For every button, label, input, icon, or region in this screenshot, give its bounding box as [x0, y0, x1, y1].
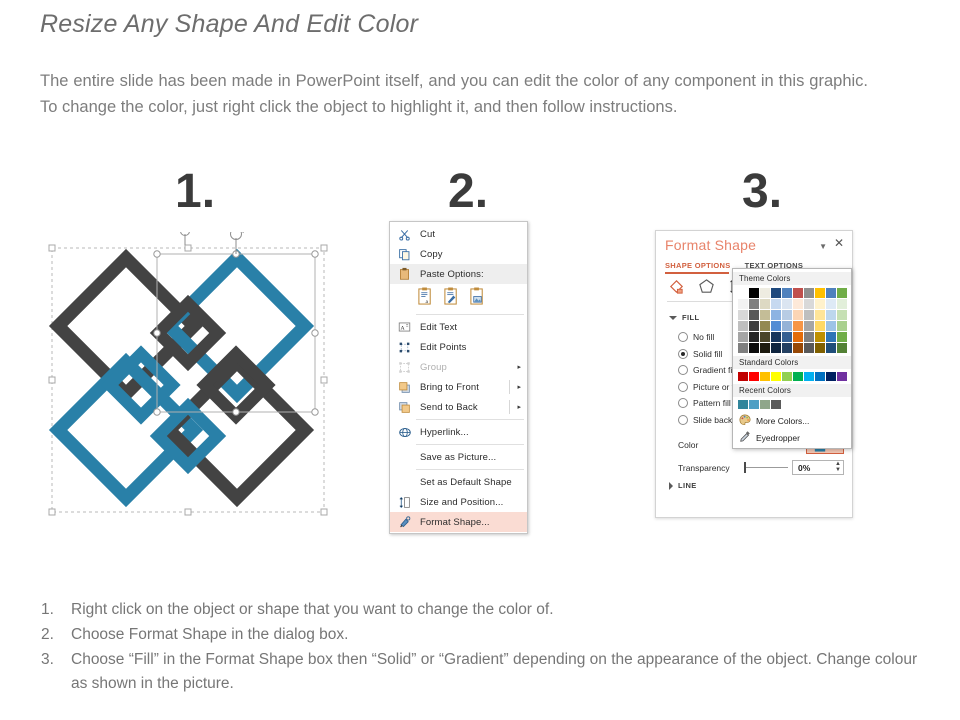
- theme-color-swatch[interactable]: [815, 343, 825, 353]
- paste-use-destination-theme-icon[interactable]: [443, 287, 460, 309]
- menu-item-label: Save as Picture...: [415, 452, 496, 463]
- theme-color-swatch[interactable]: [782, 288, 792, 298]
- standard-color-swatch[interactable]: [738, 372, 748, 381]
- bring-to-front-icon: [394, 379, 415, 395]
- paste-picture-icon[interactable]: [469, 287, 486, 309]
- triangle-down-icon: [669, 316, 677, 320]
- transparency-row[interactable]: Transparency 0% ▲ ▼: [678, 459, 844, 476]
- radio-gradient-fill[interactable]: [678, 365, 688, 375]
- theme-color-swatch[interactable]: [826, 299, 836, 309]
- theme-color-swatch[interactable]: [826, 310, 836, 320]
- spinner-arrows[interactable]: ▲ ▼: [835, 462, 841, 472]
- instruction-list: 1. Right click on the object or shape th…: [38, 598, 933, 697]
- theme-color-swatch[interactable]: [837, 288, 847, 298]
- theme-color-swatch[interactable]: [804, 343, 814, 353]
- theme-color-swatch[interactable]: [738, 343, 748, 353]
- theme-color-swatch[interactable]: [771, 299, 781, 309]
- fill-option-label: Pattern fill: [693, 398, 731, 408]
- theme-color-swatch[interactable]: [782, 343, 792, 353]
- theme-color-swatch[interactable]: [760, 310, 770, 320]
- list-item-marker: 2.: [38, 623, 71, 647]
- theme-color-swatch[interactable]: [760, 299, 770, 309]
- theme-color-swatch[interactable]: [771, 343, 781, 353]
- standard-color-swatch[interactable]: [804, 372, 814, 381]
- menu-item-label: Paste Options:: [415, 269, 484, 280]
- theme-color-swatch[interactable]: [826, 288, 836, 298]
- menu-item-label: Edit Text: [415, 322, 457, 333]
- theme-color-swatch[interactable]: [749, 332, 759, 342]
- theme-color-swatch[interactable]: [749, 321, 759, 331]
- edit-points-icon: [394, 339, 415, 355]
- theme-color-swatch[interactable]: [793, 288, 803, 298]
- theme-color-swatch[interactable]: [815, 332, 825, 342]
- standard-colors-grid[interactable]: [733, 369, 851, 384]
- theme-color-swatch[interactable]: [815, 310, 825, 320]
- theme-color-swatch[interactable]: [749, 343, 759, 353]
- fill-option-label: Gradient fill: [693, 365, 736, 375]
- theme-color-swatch[interactable]: [771, 321, 781, 331]
- theme-color-swatch[interactable]: [793, 343, 803, 353]
- menu-item-divider: [509, 380, 510, 394]
- more-colors-action[interactable]: More Colors...: [733, 412, 851, 429]
- format-shape-title: Format Shape: [665, 237, 756, 253]
- list-item-text: Choose “Fill” in the Format Shape box th…: [71, 648, 933, 696]
- menu-item-copy[interactable]: Copy: [390, 244, 527, 264]
- color-picker-flyout[interactable]: Theme Colors Standard Colors Recent Colo…: [732, 268, 852, 449]
- fill-section-label: FILL: [682, 313, 699, 322]
- menu-item-label: Cut: [415, 229, 435, 240]
- chevron-down-icon[interactable]: ▼: [819, 242, 827, 251]
- recent-color-swatch[interactable]: [749, 400, 759, 409]
- menu-item-edit-text[interactable]: A Edit Text: [390, 317, 527, 337]
- transparency-spinbox[interactable]: 0% ▲ ▼: [792, 460, 844, 475]
- radio-solid-fill[interactable]: [678, 349, 688, 359]
- menu-item-divider: [509, 400, 510, 414]
- menu-item-save-as-picture[interactable]: Save as Picture...: [390, 447, 527, 467]
- tab-shape-options[interactable]: SHAPE OPTIONS: [665, 261, 731, 270]
- theme-color-swatch[interactable]: [793, 310, 803, 320]
- list-item-marker: 1.: [38, 598, 71, 622]
- step-number-1: 1.: [175, 168, 215, 216]
- line-section-header[interactable]: LINE: [669, 481, 697, 490]
- menu-item-group[interactable]: Group ▸: [390, 357, 527, 377]
- page-title: Resize Any Shape And Edit Color: [40, 10, 418, 39]
- theme-color-swatch[interactable]: [738, 310, 748, 320]
- menu-item-format-shape[interactable]: Format Shape...: [390, 512, 527, 532]
- radio-slide-background-fill[interactable]: [678, 415, 688, 425]
- fill-section-header[interactable]: FILL: [669, 313, 699, 322]
- chevron-right-icon: ▸: [517, 363, 521, 371]
- theme-color-swatch[interactable]: [749, 288, 759, 298]
- menu-item-label: Send to Back: [415, 402, 478, 413]
- spinner-up-icon[interactable]: ▲: [835, 462, 841, 466]
- shape-graphic-panel[interactable]: [44, 232, 332, 520]
- menu-item-label: Copy: [415, 249, 443, 260]
- theme-color-swatch[interactable]: [771, 288, 781, 298]
- standard-color-swatch[interactable]: [760, 372, 770, 381]
- paste-options-row[interactable]: a: [390, 284, 527, 312]
- standard-color-swatch[interactable]: [815, 372, 825, 381]
- theme-color-swatch[interactable]: [815, 288, 825, 298]
- fill-and-line-icon[interactable]: [668, 278, 685, 300]
- recent-color-swatch[interactable]: [760, 400, 770, 409]
- menu-item-set-as-default-shape[interactable]: Set as Default Shape: [390, 472, 527, 492]
- theme-color-swatch[interactable]: [837, 343, 847, 353]
- eyedropper-label: Eyedropper: [756, 433, 800, 443]
- step-number-2: 2.: [448, 168, 488, 216]
- theme-color-swatch[interactable]: [837, 332, 847, 342]
- theme-colors-heading: Theme Colors: [733, 272, 851, 285]
- theme-colors-grid[interactable]: [733, 285, 851, 356]
- chevron-right-icon: ▸: [517, 403, 521, 411]
- no-icon: [394, 474, 415, 490]
- theme-color-swatch[interactable]: [738, 299, 748, 309]
- menu-item-label: Group: [415, 362, 447, 373]
- context-menu[interactable]: Cut Copy Paste Options: a A Edit Text: [389, 221, 528, 534]
- fill-option-label: Solid fill: [693, 349, 722, 359]
- menu-item-send-to-back[interactable]: Send to Back ▸: [390, 397, 527, 417]
- theme-color-swatch[interactable]: [793, 299, 803, 309]
- theme-color-swatch[interactable]: [804, 321, 814, 331]
- theme-color-swatch[interactable]: [815, 321, 825, 331]
- transparency-slider-track[interactable]: [746, 467, 788, 468]
- active-tab-underline: [665, 272, 729, 274]
- theme-color-swatch[interactable]: [826, 321, 836, 331]
- theme-color-swatch[interactable]: [826, 332, 836, 342]
- menu-item-label: Hyperlink...: [415, 427, 469, 438]
- theme-color-swatch[interactable]: [837, 310, 847, 320]
- theme-color-swatch[interactable]: [826, 343, 836, 353]
- transparency-value: 0%: [793, 463, 810, 473]
- menu-item-paste-options[interactable]: Paste Options:: [390, 264, 527, 284]
- theme-color-swatch[interactable]: [804, 288, 814, 298]
- standard-colors-heading: Standard Colors: [733, 356, 851, 369]
- triangle-right-icon: [669, 482, 673, 490]
- menu-item-label: Format Shape...: [415, 517, 490, 528]
- theme-color-swatch[interactable]: [793, 321, 803, 331]
- list-item: 3. Choose “Fill” in the Format Shape box…: [38, 648, 933, 696]
- list-item-marker: 3.: [38, 648, 71, 696]
- recent-color-swatch[interactable]: [738, 400, 748, 409]
- radio-picture-fill[interactable]: [678, 382, 688, 392]
- menu-item-size-and-position[interactable]: Size and Position...: [390, 492, 527, 512]
- menu-item-bring-to-front[interactable]: Bring to Front ▸: [390, 377, 527, 397]
- send-to-back-icon: [394, 399, 415, 415]
- menu-item-label: Size and Position...: [415, 497, 503, 508]
- list-item: 2. Choose Format Shape in the dialog box…: [38, 623, 933, 647]
- list-item-text: Choose Format Shape in the dialog box.: [71, 623, 933, 647]
- theme-color-swatch[interactable]: [782, 299, 792, 309]
- radio-no-fill[interactable]: [678, 332, 688, 342]
- menu-separator: [416, 419, 524, 420]
- theme-color-swatch[interactable]: [804, 299, 814, 309]
- theme-color-swatch[interactable]: [815, 299, 825, 309]
- eyedropper-action[interactable]: Eyedropper: [733, 429, 851, 446]
- recent-color-swatch[interactable]: [771, 400, 781, 409]
- theme-color-swatch[interactable]: [738, 332, 748, 342]
- theme-color-swatch[interactable]: [782, 332, 792, 342]
- no-icon: [394, 449, 415, 465]
- menu-separator: [416, 444, 524, 445]
- fill-option-label: No fill: [693, 332, 714, 342]
- theme-color-swatch[interactable]: [804, 310, 814, 320]
- menu-item-cut[interactable]: Cut: [390, 224, 527, 244]
- color-label: Color: [678, 440, 698, 450]
- menu-item-label: Edit Points: [415, 342, 467, 353]
- standard-color-swatch[interactable]: [749, 372, 759, 381]
- recent-colors-heading: Recent Colors: [733, 384, 851, 397]
- theme-color-swatch[interactable]: [837, 321, 847, 331]
- list-item: 1. Right click on the object or shape th…: [38, 598, 933, 622]
- menu-item-label: Set as Default Shape: [415, 477, 512, 488]
- format-shape-icon: [394, 514, 415, 530]
- theme-color-swatch[interactable]: [771, 310, 781, 320]
- paste-icon: [394, 266, 415, 282]
- chevron-right-icon: ▸: [517, 383, 521, 391]
- list-item-text: Right click on the object or shape that …: [71, 598, 933, 622]
- palette-icon: [739, 414, 751, 428]
- theme-color-swatch[interactable]: [771, 332, 781, 342]
- effects-icon[interactable]: [698, 278, 715, 300]
- rotation-handle-left: [181, 232, 192, 245]
- theme-color-swatch[interactable]: [760, 288, 770, 298]
- menu-item-hyperlink[interactable]: Hyperlink...: [390, 422, 527, 442]
- scissors-icon: [394, 226, 415, 242]
- menu-separator: [416, 314, 524, 315]
- size-position-icon: [394, 494, 415, 510]
- radio-pattern-fill[interactable]: [678, 398, 688, 408]
- standard-color-swatch[interactable]: [837, 372, 847, 381]
- recent-colors-grid[interactable]: [733, 397, 851, 412]
- theme-color-swatch[interactable]: [837, 299, 847, 309]
- more-colors-label: More Colors...: [756, 416, 809, 426]
- theme-color-swatch[interactable]: [793, 332, 803, 342]
- theme-color-swatch[interactable]: [782, 310, 792, 320]
- theme-color-swatch[interactable]: [760, 321, 770, 331]
- intro-paragraph: The entire slide has been made in PowerP…: [40, 68, 868, 120]
- step-number-3: 3.: [742, 168, 782, 216]
- group-icon: [394, 359, 415, 375]
- theme-color-swatch[interactable]: [760, 332, 770, 342]
- standard-color-swatch[interactable]: [782, 372, 792, 381]
- menu-separator: [416, 469, 524, 470]
- theme-color-swatch[interactable]: [749, 299, 759, 309]
- menu-item-label: Bring to Front: [415, 382, 479, 393]
- close-icon[interactable]: ✕: [834, 237, 844, 249]
- line-section-label: LINE: [678, 481, 697, 490]
- hyperlink-icon: [394, 424, 415, 440]
- copy-icon: [394, 246, 415, 262]
- theme-color-swatch[interactable]: [804, 332, 814, 342]
- theme-color-swatch[interactable]: [738, 321, 748, 331]
- theme-color-swatch[interactable]: [738, 288, 748, 298]
- theme-color-swatch[interactable]: [749, 310, 759, 320]
- theme-color-swatch[interactable]: [760, 343, 770, 353]
- paste-keep-source-formatting-icon[interactable]: a: [417, 287, 434, 309]
- standard-color-swatch[interactable]: [771, 372, 781, 381]
- standard-color-swatch[interactable]: [826, 372, 836, 381]
- eyedropper-icon: [739, 431, 751, 445]
- theme-color-swatch[interactable]: [782, 321, 792, 331]
- standard-color-swatch[interactable]: [793, 372, 803, 381]
- transparency-label: Transparency: [678, 463, 730, 473]
- spinner-down-icon[interactable]: ▼: [835, 468, 841, 472]
- menu-item-edit-points[interactable]: Edit Points: [390, 337, 527, 357]
- edit-text-icon: A: [394, 319, 415, 335]
